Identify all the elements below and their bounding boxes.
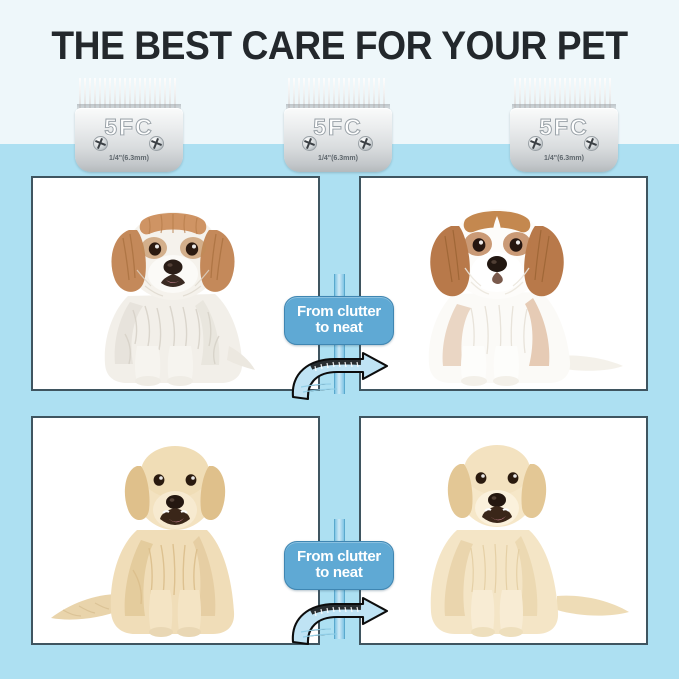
callout-line-1: From clutter <box>291 304 387 320</box>
clipper-blade-right: 5FC 1/4"(6.3mm) <box>508 78 620 173</box>
photo-panel-bottom-left: Ungroomed golden retriever sitting <box>31 416 320 645</box>
callout-badge-bottom[interactable]: From clutter to neat <box>284 541 394 590</box>
blade-screw-left-icon <box>93 136 108 151</box>
product-banner: THE BEST CARE FOR YOUR PET 5FC 1/4"(6.3m… <box>0 0 679 679</box>
callout-bottom: From clutter to neat <box>284 541 394 648</box>
blade-screw-left-icon <box>528 136 543 151</box>
callout-line-2: to neat <box>291 320 387 336</box>
clipper-blade-center: 5FC 1/4"(6.3mm) <box>282 78 394 173</box>
blade-model-label: 5FC <box>282 114 394 141</box>
dog-after-retriever-image <box>361 418 646 643</box>
blade-screw-right-icon <box>584 136 599 151</box>
callout-arrow-wrap <box>284 351 394 403</box>
blade-model-label: 5FC <box>73 114 185 141</box>
callout-arrow-wrap <box>284 596 394 648</box>
blade-screw-right-icon <box>149 136 164 151</box>
page-title: THE BEST CARE FOR YOUR PET <box>24 24 655 69</box>
curved-arrow-icon <box>281 596 399 648</box>
blade-screw-right-icon <box>358 136 373 151</box>
dog-after-terrier-image <box>361 178 646 389</box>
photo-panel-bottom-right: Freshly groomed golden retriever sitting <box>359 416 648 645</box>
photo-panel-top-right: Freshly groomed brown and white terrier … <box>359 176 648 391</box>
clipper-blade-left: 5FC 1/4"(6.3mm) <box>73 78 185 173</box>
dog-before-terrier-image <box>33 178 318 389</box>
blade-screw-left-icon <box>302 136 317 151</box>
photo-panel-top-left: Shaggy ungroomed terrier mix sitting <box>31 176 320 391</box>
curved-arrow-icon <box>281 351 399 403</box>
blade-size-label: 1/4"(6.3mm) <box>508 155 620 162</box>
dog-before-retriever-image <box>33 418 318 643</box>
callout-line-2: to neat <box>291 565 387 581</box>
blade-size-label: 1/4"(6.3mm) <box>73 155 185 162</box>
callout-top: From clutter to neat <box>284 296 394 403</box>
callout-badge-top[interactable]: From clutter to neat <box>284 296 394 345</box>
blade-model-label: 5FC <box>508 114 620 141</box>
blade-size-label: 1/4"(6.3mm) <box>282 155 394 162</box>
callout-line-1: From clutter <box>291 549 387 565</box>
